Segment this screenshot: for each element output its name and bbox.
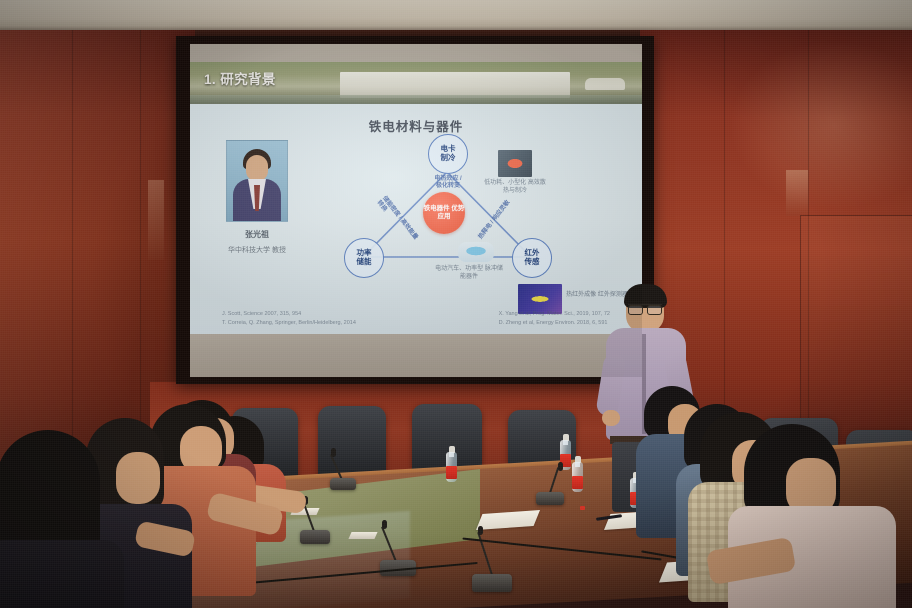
node-label-line2: 储能: [357, 258, 372, 267]
references-right-column: X. Yang et al, Prog. Mater. Sci., 2019, …: [499, 310, 610, 328]
microphone-base: [330, 478, 356, 490]
attendee-l1: [0, 430, 120, 608]
triangle-diagram: 电卡 制冷 功率 储能 红外 传感 铁电器件 优势应用 电热效应 / 极化转变 …: [322, 126, 572, 301]
car-thumbnail-caption: 电动汽车、功率型 脉冲储能器件: [434, 265, 504, 281]
campus-building-photo-secondary: [585, 78, 625, 90]
bottle-label: [572, 476, 583, 489]
bottle-neck: [449, 452, 454, 457]
chip-thumbnail: [498, 150, 532, 177]
microphone-capsule: [382, 520, 387, 529]
node-label-line2: 传感: [525, 258, 540, 267]
node-label-line2: 制冷: [441, 154, 456, 163]
slide-title: 1. 研究背景: [204, 68, 276, 88]
microphone-capsule: [331, 448, 336, 457]
chip-thumbnail-caption: 低功耗、小型化 高效散热与制冷: [484, 179, 546, 195]
microphone-base: [300, 530, 330, 544]
references-left-column: J. Scott, Science 2007, 315, 954 T. Corr…: [222, 310, 356, 328]
diagram-node-electrocaloric: 电卡 制冷: [428, 134, 468, 174]
slide-bottom-margin: [190, 334, 642, 377]
microphone-indicator-light: [580, 506, 585, 510]
car-thumbnail: [458, 242, 494, 262]
water-bottle[interactable]: [572, 462, 583, 492]
wall-trim-right: [786, 170, 808, 216]
microphone-capsule: [478, 526, 483, 535]
diagram-center-badge: 铁电器件 优势应用: [423, 192, 465, 234]
microphone-base: [536, 492, 564, 505]
attendee-top: [0, 540, 124, 608]
conference-room-scene: 1. 研究背景 铁电材料与器件 张光祖 华中科技大学 教授: [0, 0, 912, 608]
portrait-face: [246, 155, 268, 181]
attendee-face: [116, 452, 160, 504]
reference-item: X. Yang et al, Prog. Mater. Sci., 2019, …: [499, 310, 610, 319]
bottle-neck: [563, 440, 568, 445]
campus-lake: [190, 95, 642, 104]
wall-trim-left: [148, 180, 164, 260]
diagram-edge-label-top: 电热效应 / 极化转变: [434, 176, 462, 190]
presentation-slide: 1. 研究背景 铁电材料与器件 张光祖 华中科技大学 教授: [190, 44, 642, 334]
attendee-r4: [736, 424, 886, 608]
speaker-portrait-photo: [226, 140, 288, 222]
bottle-label: [446, 466, 457, 479]
slide-content-area: 铁电材料与器件 张光祖 华中科技大学 教授: [190, 104, 642, 334]
diagram-node-infrared-sensing: 红外 传感: [512, 238, 552, 278]
speaker-portrait-block: 张光祖 华中科技大学 教授: [218, 140, 296, 255]
bottle-neck: [575, 462, 580, 467]
speaker-affiliation: 华中科技大学 教授: [218, 245, 296, 255]
reference-item: D. Zheng et al, Energy Environ. 2018, 6,…: [499, 319, 610, 328]
slide-top-margin: [190, 44, 642, 62]
microphone-base: [472, 574, 512, 592]
slide-references: J. Scott, Science 2007, 315, 954 T. Corr…: [190, 310, 642, 328]
glasses-icon: [628, 304, 662, 313]
presenter-left-hand: [602, 410, 620, 426]
diagram-node-power-storage: 功率 储能: [344, 238, 384, 278]
speaker-name: 张光祖: [218, 229, 296, 240]
microphone-capsule: [558, 462, 563, 471]
name-plate: [348, 532, 377, 539]
water-bottle[interactable]: [446, 452, 457, 482]
reference-item: J. Scott, Science 2007, 315, 954: [222, 310, 356, 319]
reference-item: T. Correia, Q. Zhang, Springer, Berlin/H…: [222, 319, 356, 328]
projection-screen: 1. 研究背景 铁电材料与器件 张光祖 华中科技大学 教授: [190, 44, 642, 377]
